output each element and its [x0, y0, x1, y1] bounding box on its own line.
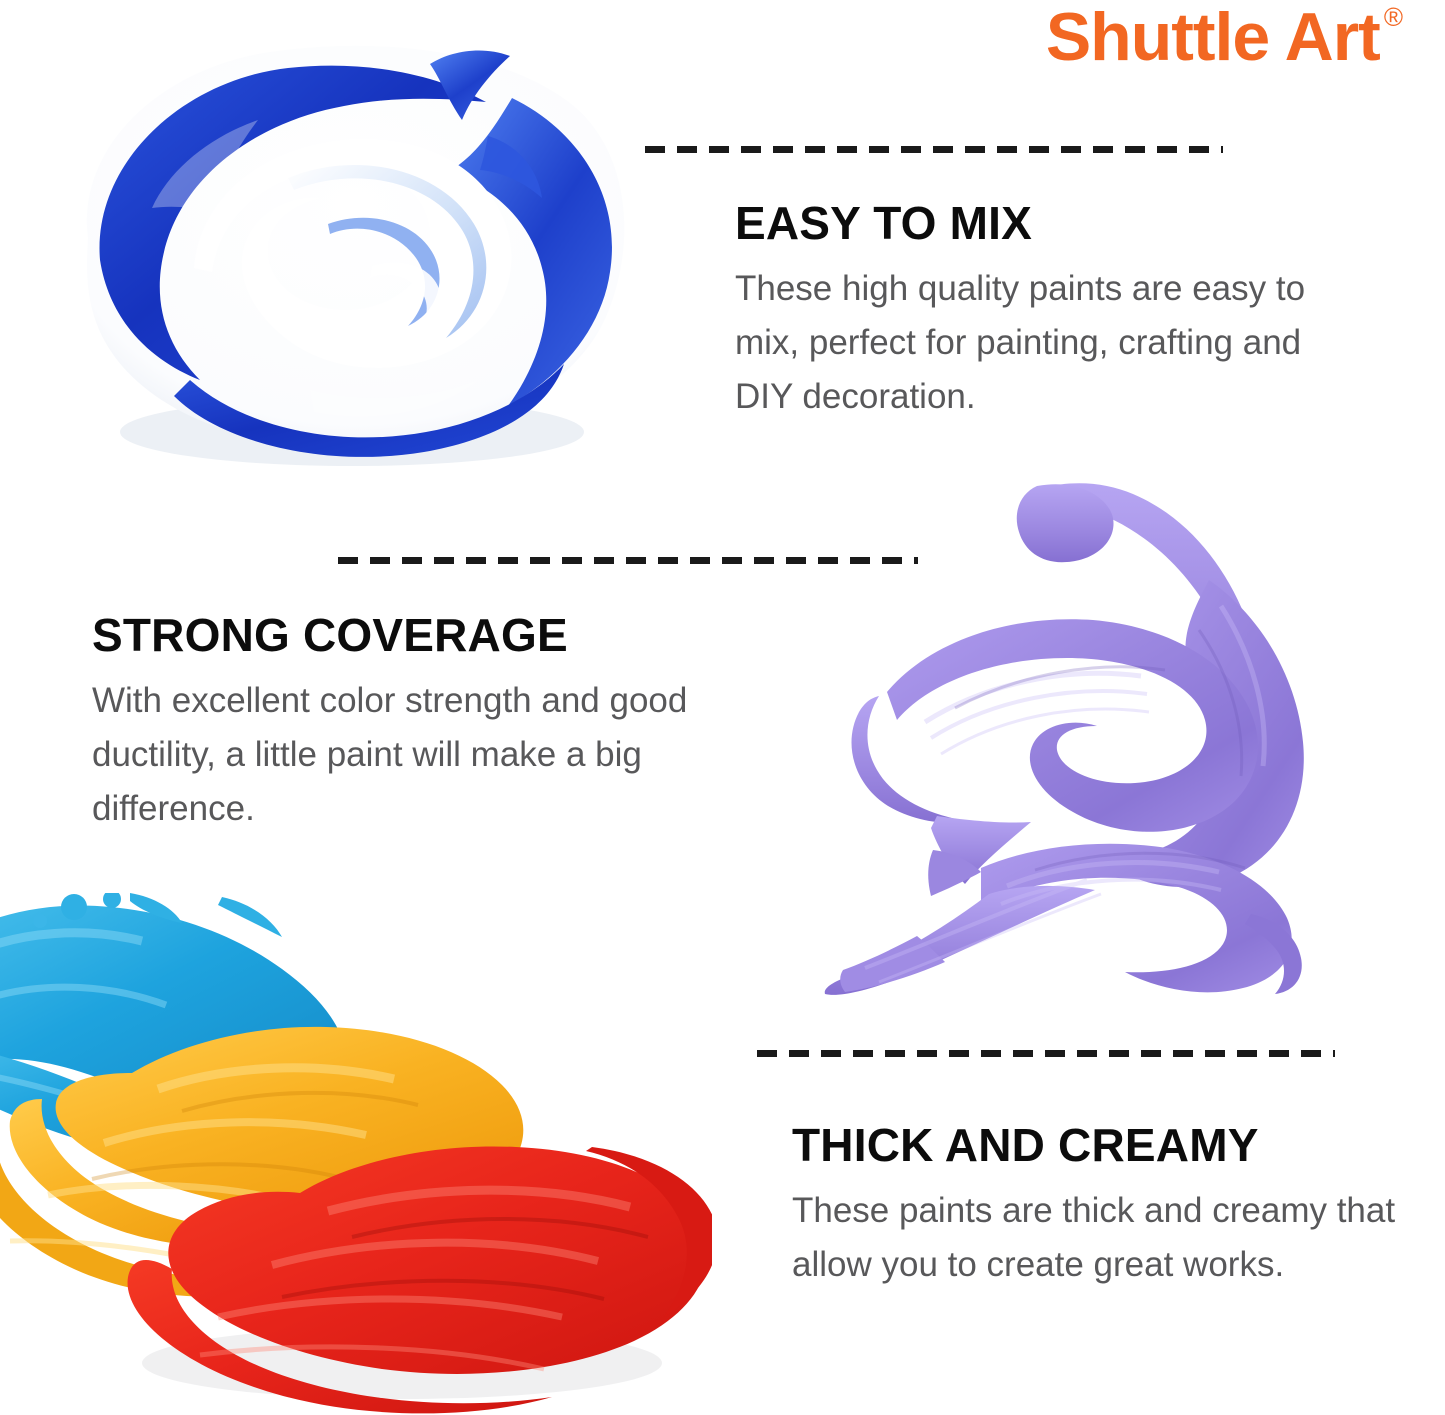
- brand-name: Shuttle Art: [1046, 2, 1380, 73]
- registered-trademark-icon: ®: [1384, 4, 1403, 30]
- cyan-yellow-red-paint-image: [0, 893, 712, 1415]
- feature-heading-easy-to-mix: EASY TO MIX: [735, 200, 1315, 246]
- feature-block-strong-coverage: STRONG COVERAGE With excellent color str…: [92, 612, 752, 836]
- divider-strong-coverage: [338, 557, 918, 564]
- feature-block-easy-to-mix: EASY TO MIX These high quality paints ar…: [735, 200, 1315, 424]
- divider-easy-to-mix: [645, 146, 1223, 153]
- feature-body-strong-coverage: With excellent color strength and good d…: [92, 674, 752, 836]
- purple-brushstroke-image: [805, 470, 1375, 1010]
- brand-logo: Shuttle Art ®: [1046, 2, 1403, 73]
- paint-smear-icon: [0, 893, 712, 1415]
- blue-swirl-icon: [42, 28, 652, 473]
- feature-body-thick-and-creamy: These paints are thick and creamy that a…: [792, 1184, 1442, 1292]
- feature-body-easy-to-mix: These high quality paints are easy to mi…: [735, 262, 1315, 424]
- purple-brushstroke-icon: [805, 470, 1375, 1010]
- feature-heading-strong-coverage: STRONG COVERAGE: [92, 612, 752, 658]
- divider-thick-and-creamy: [757, 1050, 1335, 1057]
- product-feature-page: Shuttle Art ®: [0, 0, 1445, 1415]
- blue-swirl-paint-image: [42, 28, 652, 473]
- feature-block-thick-and-creamy: THICK AND CREAMY These paints are thick …: [792, 1122, 1442, 1292]
- feature-heading-thick-and-creamy: THICK AND CREAMY: [792, 1122, 1442, 1168]
